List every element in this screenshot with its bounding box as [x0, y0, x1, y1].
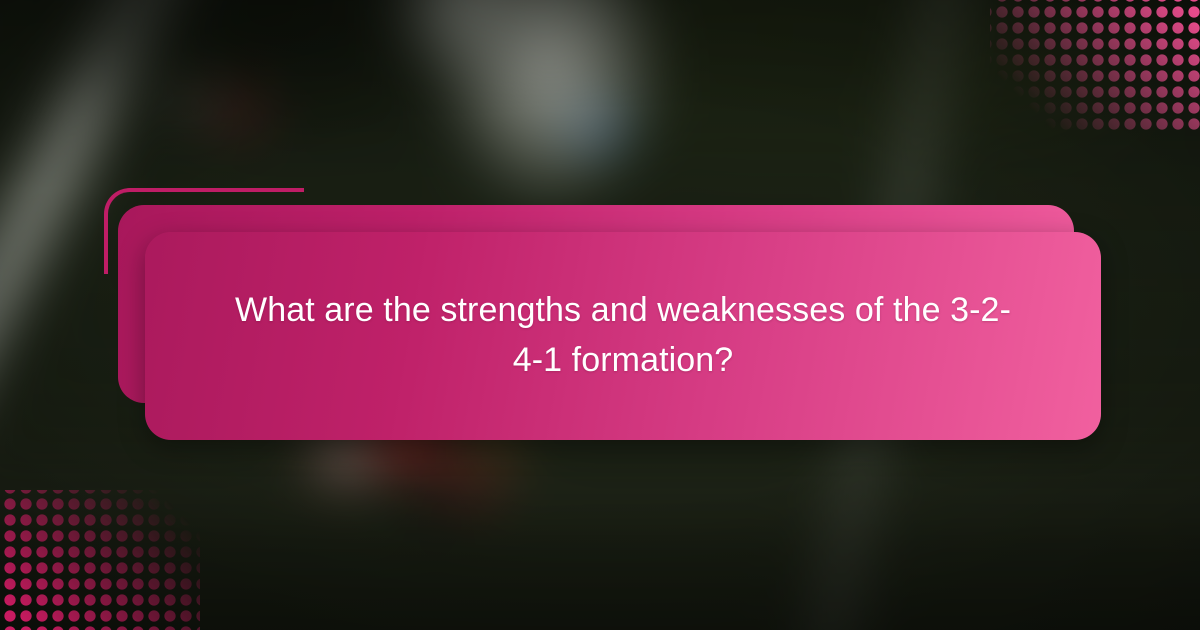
question-text: What are the strengths and weaknesses of…	[223, 285, 1023, 388]
question-card[interactable]: What are the strengths and weaknesses of…	[145, 232, 1101, 440]
screenshot-canvas: What are the strengths and weaknesses of…	[0, 0, 1200, 630]
